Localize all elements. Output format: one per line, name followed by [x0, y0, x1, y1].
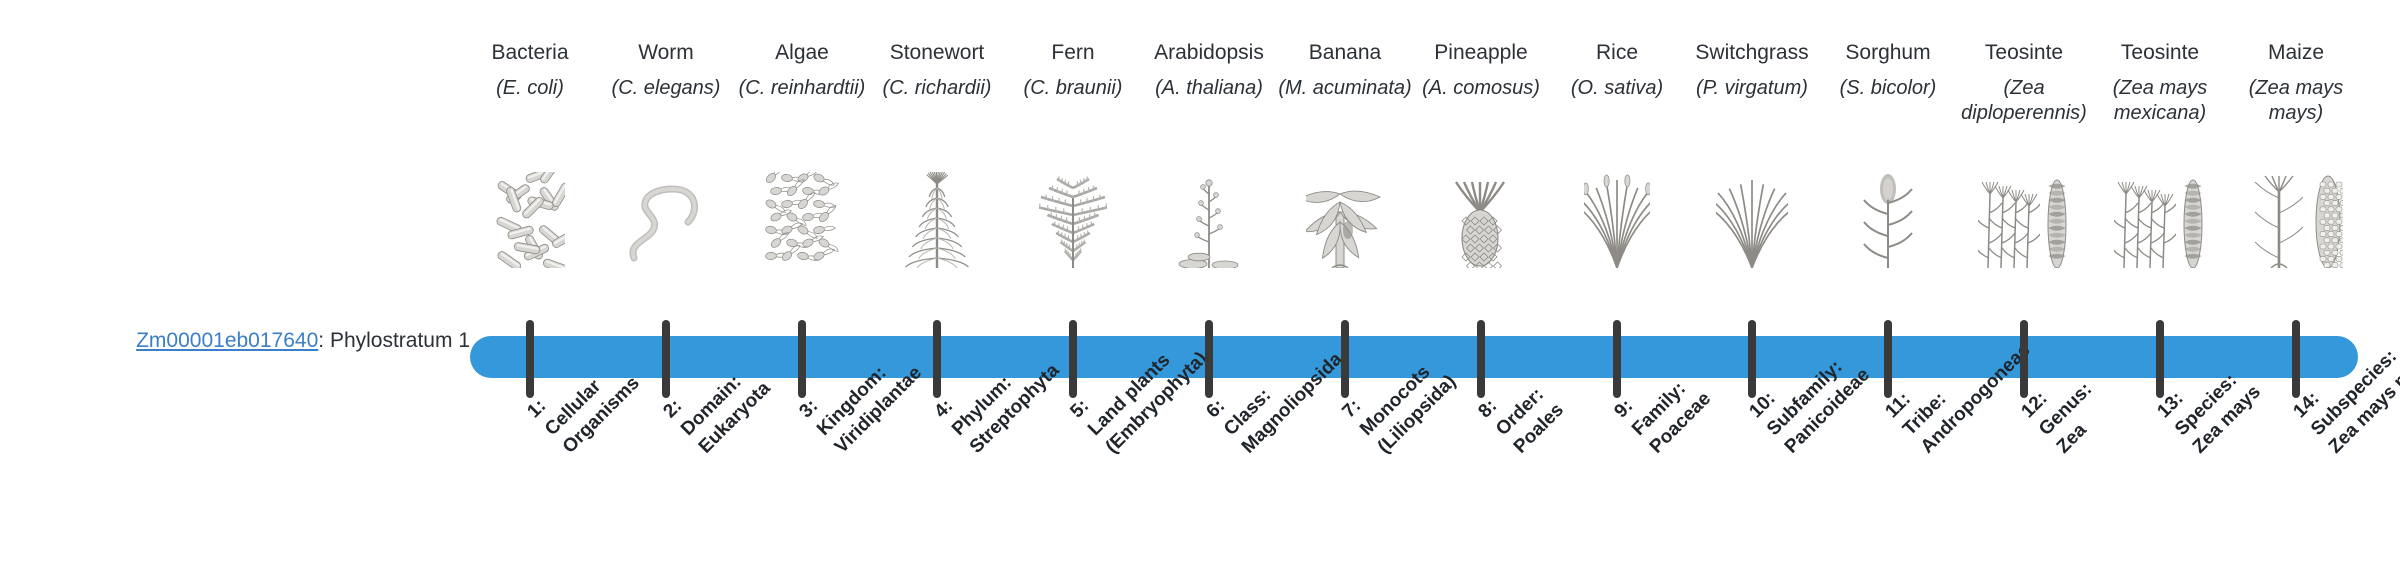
species-common-name: Pineapple	[1406, 40, 1556, 65]
species-latin-name: (E. coli)	[455, 76, 605, 101]
phylostratum-tick-11[interactable]	[1884, 320, 1892, 398]
species-common-name: Sorghum	[1813, 40, 1963, 65]
species-latin-name: (S. bicolor)	[1813, 76, 1963, 101]
species-column-4: Stonewort(C. richardii)4: Phylum: Strept…	[862, 0, 1012, 580]
fern-frond-icon	[998, 168, 1148, 268]
gene-label-separator: :	[318, 329, 330, 352]
species-column-14: Maize(Zea mays mays)14: Subspecies: Zea …	[2221, 0, 2371, 580]
phylostratum-tick-8[interactable]	[1477, 320, 1485, 398]
species-column-3: Algae(C. reinhardtii)3: Kingdom: Viridip…	[727, 0, 877, 580]
species-common-name: Bacteria	[455, 40, 605, 65]
chlamydomonas-algae-icon	[727, 168, 877, 268]
species-column-12: Teosinte(Zea diploperennis)12: Genus: Ze…	[1949, 0, 2099, 580]
species-column-9: Rice(O. sativa)9: Family: Poaceae	[1542, 0, 1692, 580]
phylostratum-tick-14[interactable]	[2292, 320, 2300, 398]
species-latin-name: (C. elegans)	[591, 76, 741, 101]
phylostratigraphy-figure: Zm00001eb017640: Phylostratum 1 Bacteria…	[0, 0, 2400, 580]
phylostratum-tick-12[interactable]	[2020, 320, 2028, 398]
species-column-11: Sorghum(S. bicolor)11: Tribe: Andropogon…	[1813, 0, 1963, 580]
gene-id-link[interactable]: Zm00001eb017640	[136, 329, 318, 352]
species-common-name: Teosinte	[2085, 40, 2235, 65]
arabidopsis-plant-icon	[1134, 168, 1284, 268]
species-column-6: Arabidopsis(A. thaliana)6: Class: Magnol…	[1134, 0, 1284, 580]
species-common-name: Arabidopsis	[1134, 40, 1284, 65]
species-latin-name: (C. braunii)	[998, 76, 1148, 101]
phylostratum-tick-9[interactable]	[1613, 320, 1621, 398]
species-column-1: Bacteria(E. coli)1: Cellular Organisms	[455, 0, 605, 580]
species-latin-name: (M. acuminata)	[1270, 76, 1420, 101]
species-column-13: Teosinte(Zea mays mexicana)13: Species: …	[2085, 0, 2235, 580]
species-common-name: Rice	[1542, 40, 1692, 65]
nematode-worm-icon	[591, 168, 741, 268]
species-latin-name: (P. virgatum)	[1677, 76, 1827, 101]
teosinte-plant-and-ear-icon	[1949, 168, 2099, 268]
species-latin-name: (Zea mays mexicana)	[2085, 76, 2235, 126]
gene-phylostratum-label: Zm00001eb017640: Phylostratum 1	[30, 329, 470, 353]
species-common-name: Algae	[727, 40, 877, 65]
species-common-name: Banana	[1270, 40, 1420, 65]
bacteria-rods-icon	[455, 168, 605, 268]
phylostratum-tick-3[interactable]	[798, 320, 806, 398]
species-latin-name: (O. sativa)	[1542, 76, 1692, 101]
switchgrass-plant-icon	[1677, 168, 1827, 268]
species-column-10: Switchgrass(P. virgatum)10: Subfamily: P…	[1677, 0, 1827, 580]
phylostratum-tick-4[interactable]	[933, 320, 941, 398]
species-common-name: Maize	[2221, 40, 2371, 65]
phylostratum-tick-5[interactable]	[1069, 320, 1077, 398]
species-column-8: Pineapple(A. comosus)8: Order: Poales	[1406, 0, 1556, 580]
species-column-2: Worm(C. elegans)2: Domain: Eukaryota	[591, 0, 741, 580]
phylostratum-tick-13[interactable]	[2156, 320, 2164, 398]
species-latin-name: (Zea diploperennis)	[1949, 76, 2099, 126]
phylostratum-label-14: 14: Subspecies: Zea mays mays	[2288, 236, 2400, 459]
species-latin-name: (C. reinhardtii)	[727, 76, 877, 101]
phylostratum-tick-7[interactable]	[1341, 320, 1349, 398]
phylostratum-tick-1[interactable]	[526, 320, 534, 398]
species-common-name: Teosinte	[1949, 40, 2099, 65]
phylostratum-tick-6[interactable]	[1205, 320, 1213, 398]
species-latin-name: (Zea mays mays)	[2221, 76, 2371, 126]
species-latin-name: (A. comosus)	[1406, 76, 1556, 101]
species-common-name: Worm	[591, 40, 741, 65]
teosinte-plant-and-ear-icon	[2085, 168, 2235, 268]
pineapple-fruit-icon	[1406, 168, 1556, 268]
species-column-5: Fern(C. braunii)5: Land plants (Embryoph…	[998, 0, 1148, 580]
banana-plant-icon	[1270, 168, 1420, 268]
sorghum-plant-icon	[1813, 168, 1963, 268]
species-common-name: Fern	[998, 40, 1148, 65]
species-latin-name: (C. richardii)	[862, 76, 1012, 101]
phylostratum-tick-2[interactable]	[662, 320, 670, 398]
stonewort-alga-icon	[862, 168, 1012, 268]
species-column-7: Banana(M. acuminata)7: Monocots (Liliops…	[1270, 0, 1420, 580]
species-common-name: Stonewort	[862, 40, 1012, 65]
phylostratum-tick-10[interactable]	[1748, 320, 1756, 398]
rice-plant-icon	[1542, 168, 1692, 268]
species-common-name: Switchgrass	[1677, 40, 1827, 65]
maize-plant-and-cob-icon	[2221, 168, 2371, 268]
species-latin-name: (A. thaliana)	[1134, 76, 1284, 101]
gene-phylostratum-value: Phylostratum 1	[330, 329, 470, 352]
